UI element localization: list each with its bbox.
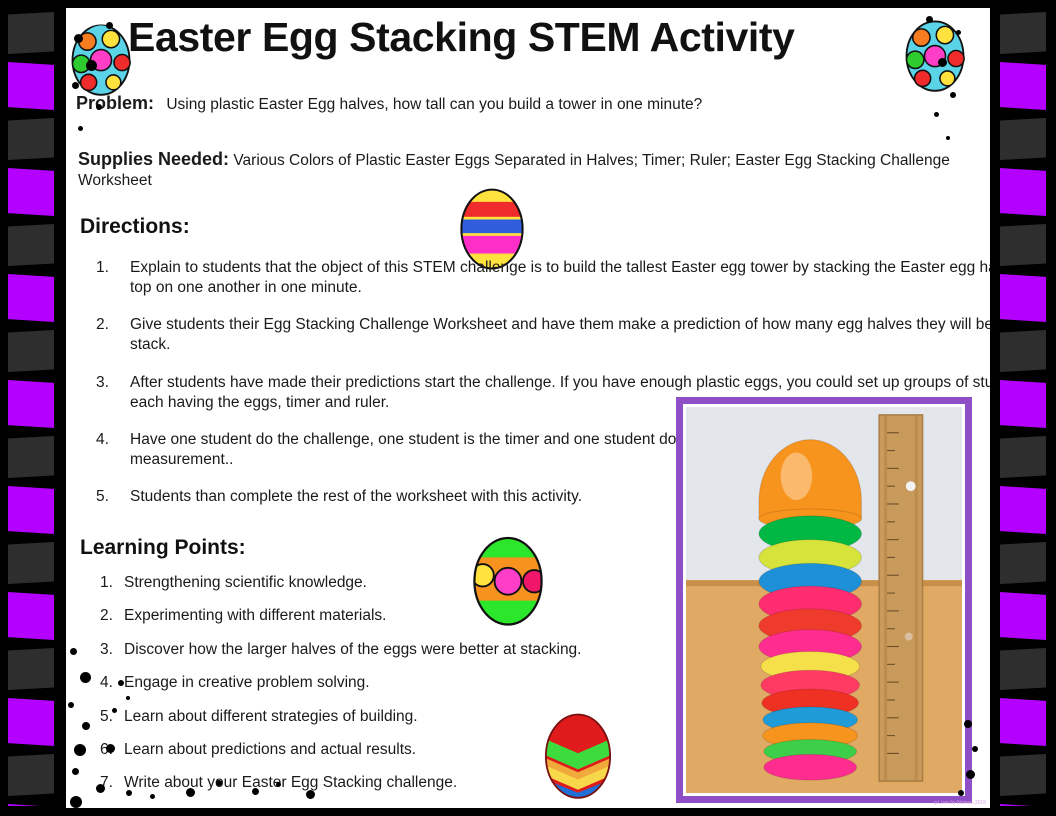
border-cell [8,118,54,160]
supplies-label: Supplies Needed: [78,149,229,169]
decorative-dot [126,790,132,796]
decorative-dot [926,16,933,23]
egg-tower-photo [683,404,965,796]
learning-point-text: Discover how the larger halves of the eg… [124,641,582,658]
decorative-dot [106,744,115,753]
learning-point-number: 3. [100,640,113,659]
learning-point-text: Learn about different strategies of buil… [124,708,418,725]
border-cell [1000,698,1046,746]
decorative-dot [118,680,124,686]
direction-text: Explain to students that the object of t… [130,259,990,296]
learning-point-item: 5.Learn about different strategies of bu… [78,707,698,726]
decorative-dot [70,648,77,655]
activity-page: Easter Egg Stacking STEM Activity [0,0,1056,816]
polka-dot-egg-left [70,18,132,96]
decorative-dot [112,708,117,713]
right-film-border [994,0,1056,816]
decorative-dot [72,768,79,775]
decorative-dot [82,722,90,730]
decorative-dot [74,744,86,756]
direction-text: Give students their Egg Stacking Challen… [130,316,990,353]
border-cell [1000,542,1046,584]
direction-text: Students than complete the rest of the w… [130,488,582,505]
decorative-dot [74,34,83,43]
learning-points-list: 1.Strengthening scientific knowledge.2.E… [78,573,698,807]
decorative-dot [276,782,281,787]
learning-point-number: 1. [100,573,113,592]
border-cell [8,754,54,796]
border-cell [1000,754,1046,796]
decorative-dot [72,82,79,89]
decorative-dot [252,788,259,795]
border-cell [1000,224,1046,266]
border-cell [8,698,54,746]
border-cell [8,436,54,478]
credit-text: g Love by Noreen 2015 [934,800,986,806]
decorative-dot [80,672,91,683]
decorative-dot [938,58,947,67]
directions-heading: Directions: [80,215,190,239]
decorative-dot [126,696,130,700]
egg-tower-photo-frame [676,397,972,803]
learning-points-heading: Learning Points: [80,536,246,560]
direction-number: 3. [96,373,109,393]
border-cell [1000,12,1046,54]
decorative-dot [946,136,950,140]
page-title: Easter Egg Stacking STEM Activity [128,14,928,61]
decorative-dot [96,784,105,793]
decorative-dot [964,720,972,728]
worksheet-sheet: Easter Egg Stacking STEM Activity [66,8,990,808]
supplies-line: Supplies Needed: Various Colors of Plast… [78,148,978,190]
border-cell [8,224,54,266]
decorative-dot [966,770,975,779]
border-cell [1000,62,1046,110]
decorative-dot [186,788,195,797]
border-cell [8,380,54,428]
border-cell [8,62,54,110]
border-cell [8,592,54,640]
border-cell [1000,118,1046,160]
left-film-border [0,0,62,816]
border-cell [1000,436,1046,478]
decorative-dot [96,104,102,110]
direction-item: 5.Students than complete the rest of the… [78,487,730,507]
border-cell [8,12,54,54]
direction-number: 1. [96,258,109,278]
learning-point-item: 6.Learn about predictions and actual res… [78,740,698,759]
decorative-dot [216,780,222,786]
decorative-dot [68,702,74,708]
learning-point-item: 3.Discover how the larger halves of the … [78,640,698,659]
directions-list: 1.Explain to students that the object of… [78,258,718,524]
border-cell [1000,274,1046,322]
border-cell [8,542,54,584]
direction-item: 2.Give students their Egg Stacking Chall… [78,315,990,355]
decorative-dot [86,60,97,71]
decorative-dot [150,794,155,799]
border-cell [8,486,54,534]
decorative-dot [70,796,82,808]
learning-point-text: Experimenting with different materials. [124,607,386,624]
decorative-dot [106,22,113,29]
learning-point-number: 2. [100,606,113,625]
learning-point-text: Strengthening scientific knowledge. [124,574,367,591]
problem-separator: : [148,93,154,113]
learning-point-item: 1.Strengthening scientific knowledge. [78,573,698,592]
learning-point-item: 2.Experimenting with different materials… [78,606,698,625]
border-cell [8,168,54,216]
direction-item: 1.Explain to students that the object of… [78,258,990,298]
direction-text: Have one student do the challenge, one s… [130,431,723,468]
learning-point-text: Engage in creative problem solving. [124,674,370,691]
direction-number: 5. [96,487,109,507]
learning-point-number: 4. [100,673,113,692]
border-cell [1000,648,1046,690]
problem-line: Problem: Using plastic Easter Egg halves… [76,92,966,115]
border-cell [1000,168,1046,216]
direction-number: 4. [96,430,109,450]
learning-point-number: 5. [100,707,113,726]
decorative-dot [934,112,939,117]
decorative-dot [972,746,978,752]
learning-point-text: Learn about predictions and actual resul… [124,741,416,758]
direction-number: 2. [96,315,109,335]
border-cell [1000,330,1046,372]
border-cell [8,648,54,690]
border-cell [8,330,54,372]
problem-label: Problem [76,93,148,113]
direction-item: 4.Have one student do the challenge, one… [78,430,730,470]
border-cell [1000,486,1046,534]
decorative-dot [78,126,83,131]
problem-text: Using plastic Easter Egg halves, how tal… [166,96,702,113]
learning-point-text: Write about your Easter Egg Stacking cha… [124,774,457,791]
decorative-dot [950,92,956,98]
learning-point-item: 4.Engage in creative problem solving. [78,673,698,692]
border-cell [8,274,54,322]
border-cell [1000,380,1046,428]
decorative-dot [956,30,961,35]
border-cell [1000,592,1046,640]
decorative-dot [958,790,964,796]
decorative-dot [306,790,315,799]
learning-point-item: 7.Write about your Easter Egg Stacking c… [78,773,698,792]
polka-dot-egg-right [904,14,966,92]
